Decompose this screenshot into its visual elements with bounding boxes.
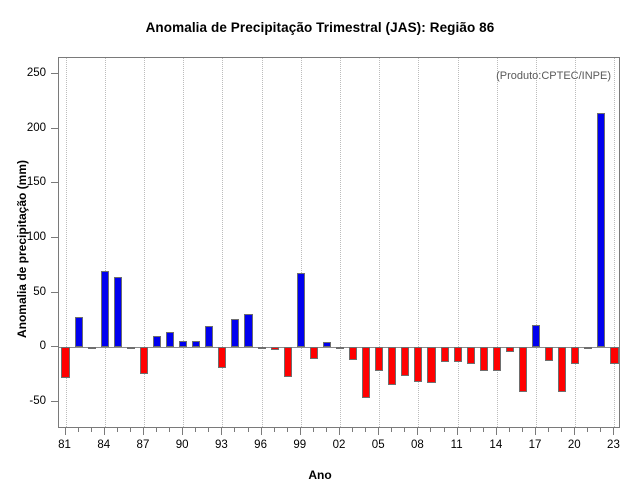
x-tick-mark [169, 428, 170, 432]
gridline-vertical [340, 58, 341, 427]
x-tick-label: 93 [215, 439, 228, 451]
x-tick-label: 05 [372, 439, 385, 451]
bar[interactable] [61, 347, 69, 378]
x-tick-mark [143, 428, 144, 435]
bar[interactable] [258, 347, 266, 349]
y-tick-mark [51, 73, 58, 74]
bar[interactable] [127, 347, 135, 349]
y-tick-mark [51, 401, 58, 402]
x-tick-mark [600, 428, 601, 432]
x-tick-mark [535, 428, 536, 435]
bar[interactable] [362, 347, 370, 398]
bar[interactable] [192, 341, 200, 348]
x-tick-mark [326, 428, 327, 432]
x-tick-mark [300, 428, 301, 435]
x-tick-mark [195, 428, 196, 432]
x-tick-mark [430, 428, 431, 432]
x-tick-mark [613, 428, 614, 435]
x-tick-mark [248, 428, 249, 432]
x-tick-mark [457, 428, 458, 435]
gridline-vertical [575, 58, 576, 427]
x-tick-mark [104, 428, 105, 435]
gridline-vertical [262, 58, 263, 427]
x-tick-mark [378, 428, 379, 435]
x-tick-mark [417, 428, 418, 435]
bar[interactable] [610, 347, 618, 363]
x-tick-mark [587, 428, 588, 432]
bar[interactable] [480, 347, 488, 371]
gridline-vertical [536, 58, 537, 427]
bar[interactable] [584, 347, 592, 349]
x-tick-label: 99 [293, 439, 306, 451]
x-axis: 818487909396990205081114172023 Ano [0, 428, 640, 500]
x-tick-label: 20 [568, 439, 581, 451]
bar[interactable] [441, 347, 449, 362]
x-tick-label: 87 [137, 439, 150, 451]
gridline-vertical [222, 58, 223, 427]
y-tick-label: 50 [33, 286, 46, 298]
x-tick-mark [365, 428, 366, 432]
x-tick-mark [117, 428, 118, 432]
x-tick-label: 90 [176, 439, 189, 451]
x-tick-label: 81 [58, 439, 71, 451]
bar[interactable] [140, 347, 148, 374]
x-tick-label: 17 [529, 439, 542, 451]
x-tick-label: 02 [333, 439, 346, 451]
gridline-vertical [614, 58, 615, 427]
bar[interactable] [218, 347, 226, 368]
x-tick-mark [91, 428, 92, 432]
bar[interactable] [75, 317, 83, 348]
x-tick-mark [444, 428, 445, 432]
bar[interactable] [545, 347, 553, 361]
bar[interactable] [166, 332, 174, 347]
bar[interactable] [597, 113, 605, 348]
bar[interactable] [467, 347, 475, 363]
x-tick-label: 96 [254, 439, 267, 451]
y-tick-mark [51, 182, 58, 183]
bar[interactable] [310, 347, 318, 359]
bar[interactable] [179, 341, 187, 348]
chart-figure: Anomalia de Precipitação Trimestral (JAS… [0, 0, 640, 500]
bar[interactable] [114, 277, 122, 347]
x-tick-mark [339, 428, 340, 435]
x-tick-mark [130, 428, 131, 432]
x-tick-mark [404, 428, 405, 432]
bar[interactable] [323, 342, 331, 347]
x-tick-mark [548, 428, 549, 432]
bar[interactable] [244, 314, 252, 347]
bar[interactable] [401, 347, 409, 375]
x-tick-mark [287, 428, 288, 432]
x-tick-mark [65, 428, 66, 435]
bar[interactable] [558, 347, 566, 392]
y-tick-label: 150 [27, 176, 46, 188]
chart-title: Anomalia de Precipitação Trimestral (JAS… [0, 20, 640, 35]
x-tick-mark [496, 428, 497, 435]
bar[interactable] [388, 347, 396, 385]
bar[interactable] [231, 319, 239, 347]
gridline-vertical [497, 58, 498, 427]
gridline-vertical [183, 58, 184, 427]
gridline-vertical [301, 58, 302, 427]
x-tick-mark [561, 428, 562, 432]
bar[interactable] [427, 347, 435, 383]
bar[interactable] [153, 336, 161, 347]
y-axis: -50050100150200250 Anomalia de precipita… [0, 0, 58, 500]
y-axis-title: Anomalia de precipitação (mm) [15, 119, 29, 379]
bar[interactable] [532, 325, 540, 347]
bar[interactable] [375, 347, 383, 371]
y-tick-label: -50 [29, 395, 46, 407]
bar[interactable] [336, 347, 344, 349]
bar[interactable] [349, 347, 357, 360]
x-tick-mark [78, 428, 79, 432]
y-tick-mark [51, 292, 58, 293]
x-tick-mark [274, 428, 275, 432]
gridline-vertical [105, 58, 106, 427]
y-tick-label: 100 [27, 231, 46, 243]
bar[interactable] [284, 347, 292, 376]
gridline-vertical [379, 58, 380, 427]
plot-area: (Produto:CPTEC/INPE) [58, 57, 620, 428]
x-tick-mark [574, 428, 575, 435]
y-tick-label: 250 [27, 67, 46, 79]
x-tick-mark [182, 428, 183, 435]
x-tick-mark [352, 428, 353, 432]
x-tick-label: 84 [97, 439, 110, 451]
bar[interactable] [88, 347, 96, 349]
x-tick-mark [208, 428, 209, 432]
x-tick-mark [313, 428, 314, 432]
x-tick-label: 23 [607, 439, 620, 451]
x-axis-title: Ano [0, 468, 640, 482]
bar[interactable] [493, 347, 501, 371]
x-tick-label: 14 [489, 439, 502, 451]
x-tick-mark [221, 428, 222, 435]
bar[interactable] [506, 347, 514, 351]
bar[interactable] [271, 347, 279, 350]
y-tick-label: 200 [27, 122, 46, 134]
x-tick-label: 11 [451, 439, 463, 451]
bar[interactable] [519, 347, 527, 392]
bar[interactable] [571, 347, 579, 363]
y-tick-mark [51, 346, 58, 347]
x-tick-mark [391, 428, 392, 432]
bar[interactable] [297, 273, 305, 347]
x-tick-mark [522, 428, 523, 432]
gridline-vertical [458, 58, 459, 427]
x-tick-mark [156, 428, 157, 432]
bar[interactable] [205, 326, 213, 347]
x-tick-mark [509, 428, 510, 432]
bar[interactable] [454, 347, 462, 362]
y-tick-mark [51, 237, 58, 238]
x-tick-mark [234, 428, 235, 432]
y-tick-label: 0 [40, 340, 46, 352]
bar[interactable] [101, 271, 109, 347]
x-tick-mark [483, 428, 484, 432]
x-tick-mark [261, 428, 262, 435]
x-tick-label: 08 [411, 439, 424, 451]
bar[interactable] [414, 347, 422, 382]
y-tick-mark [51, 128, 58, 129]
source-annotation: (Produto:CPTEC/INPE) [496, 70, 611, 82]
x-tick-mark [470, 428, 471, 432]
